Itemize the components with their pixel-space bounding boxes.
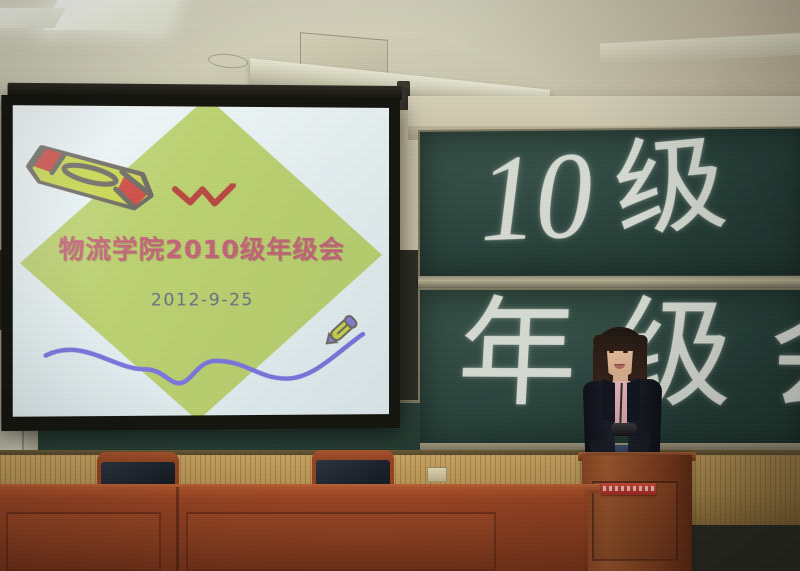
desk-seam: [176, 487, 179, 571]
ceiling-circle-fixture: [208, 52, 248, 69]
chalk-text-ji: 级: [610, 131, 731, 246]
marker-squiggle: [172, 183, 239, 213]
projection-screen-roller: [8, 83, 402, 100]
chalk-text-10: 10: [472, 133, 601, 262]
red-booklet-object: [601, 483, 656, 495]
desk-panel-left: [6, 512, 161, 571]
marker-pen-illustration: [19, 128, 193, 225]
microphone-icon: [611, 423, 637, 436]
slide-date: 2012-9-25: [13, 290, 389, 311]
lecture-hall-photo: 10 级 年级会: [0, 0, 800, 571]
fluorescent-light-panel-secondary: [0, 8, 66, 28]
slide-title: 物流学院2010级年级会: [13, 229, 389, 266]
podium: [582, 455, 692, 571]
presenter-eye-right: [623, 351, 628, 353]
presenter-lapel-left: [602, 379, 615, 423]
chalk-tray: [418, 276, 800, 288]
presenter-eye-left: [609, 351, 614, 353]
desk-panel-right: [186, 512, 496, 571]
presenter-lapel-right: [627, 379, 640, 423]
blackboard-top-panel: 10 级: [418, 126, 800, 280]
projection-screen: 物流学院2010级年级会 2012-9-25: [1, 95, 400, 431]
small-pen-illustration: [319, 304, 367, 352]
beige-box-object: [427, 467, 447, 482]
presentation-slide: 物流学院2010级年级会 2012-9-25: [13, 105, 389, 417]
fluorescent-light-panel: [43, 0, 181, 30]
